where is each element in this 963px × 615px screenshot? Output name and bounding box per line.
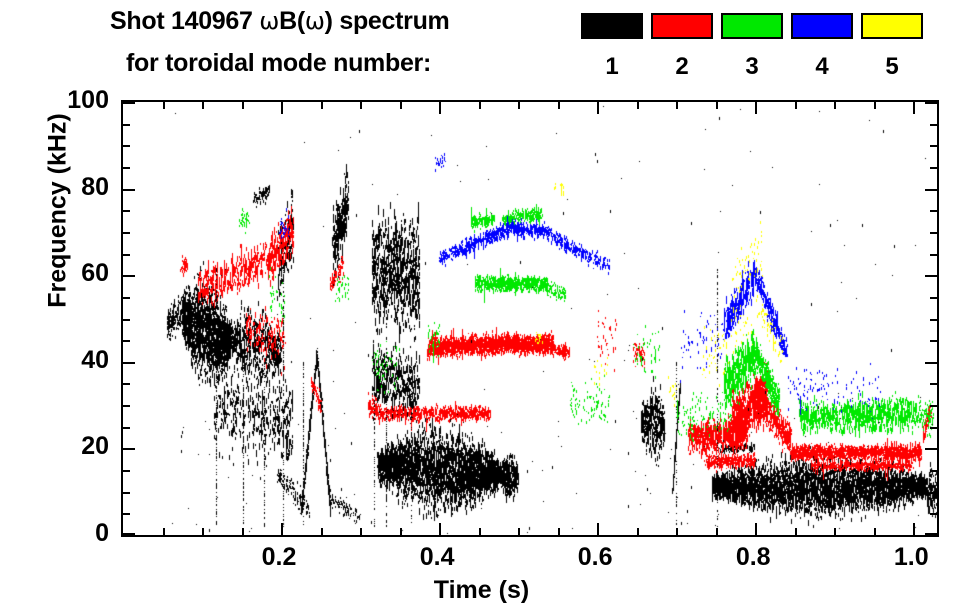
legend-swatch-3 xyxy=(721,13,783,39)
x-minor-tick xyxy=(558,528,560,535)
y-minor-tick-right xyxy=(930,492,937,494)
x-major-tick-top xyxy=(281,102,283,114)
x-minor-tick-top xyxy=(874,102,876,109)
legend-swatch-4 xyxy=(791,13,853,39)
y-major-tick-right xyxy=(925,533,937,535)
y-major-tick-right xyxy=(925,102,937,104)
x-minor-tick xyxy=(400,528,402,535)
x-minor-tick-top xyxy=(795,102,797,109)
y-minor-tick-right xyxy=(930,405,937,407)
x-minor-tick xyxy=(874,528,876,535)
x-tick-label-0.6: 0.6 xyxy=(545,545,645,570)
y-major-tick xyxy=(123,189,135,191)
x-major-tick-top xyxy=(597,102,599,114)
x-major-tick xyxy=(597,523,599,535)
legend-swatch-5 xyxy=(861,13,923,39)
x-minor-tick xyxy=(637,528,639,535)
legend-label-2: 2 xyxy=(651,55,713,79)
x-minor-tick xyxy=(834,528,836,535)
x-minor-tick xyxy=(518,528,520,535)
x-minor-tick-top xyxy=(676,102,678,109)
y-major-tick xyxy=(123,533,135,535)
y-minor-tick-right xyxy=(930,297,937,299)
x-major-tick xyxy=(439,523,441,535)
x-minor-tick-top xyxy=(360,102,362,109)
y-minor-tick xyxy=(123,513,130,515)
y-major-tick-right xyxy=(925,448,937,450)
y-minor-tick-right xyxy=(930,340,937,342)
y-minor-tick xyxy=(123,383,130,385)
x-axis-label: Time (s) xyxy=(0,578,963,603)
y-minor-tick xyxy=(123,340,130,342)
y-minor-tick-right xyxy=(930,254,937,256)
y-minor-tick xyxy=(123,405,130,407)
y-minor-tick-right xyxy=(930,210,937,212)
y-minor-tick-right xyxy=(930,513,937,515)
x-minor-tick xyxy=(163,528,165,535)
y-tick-label-0: 0 xyxy=(39,521,109,546)
y-minor-tick xyxy=(123,427,130,429)
y-axis-label: Frequency (kHz) xyxy=(46,91,71,331)
x-major-tick xyxy=(281,523,283,535)
plot-area xyxy=(121,100,939,537)
x-minor-tick xyxy=(360,528,362,535)
x-major-tick-top xyxy=(913,102,915,114)
legend-swatch-2 xyxy=(651,13,713,39)
x-minor-tick-top xyxy=(834,102,836,109)
x-minor-tick-top xyxy=(716,102,718,109)
y-minor-tick xyxy=(123,297,130,299)
x-minor-tick xyxy=(479,528,481,535)
y-minor-tick xyxy=(123,145,130,147)
y-minor-tick xyxy=(123,210,130,212)
x-minor-tick-top xyxy=(202,102,204,109)
legend-swatch-1 xyxy=(581,13,643,39)
legend: 12345 xyxy=(0,0,963,95)
x-minor-tick-top xyxy=(518,102,520,109)
y-minor-tick xyxy=(123,232,130,234)
y-minor-tick xyxy=(123,492,130,494)
y-major-tick-right xyxy=(925,362,937,364)
y-minor-tick-right xyxy=(930,470,937,472)
x-major-tick-top xyxy=(439,102,441,114)
y-minor-tick xyxy=(123,470,130,472)
y-major-tick xyxy=(123,102,135,104)
y-minor-tick-right xyxy=(930,319,937,321)
x-minor-tick-top xyxy=(400,102,402,109)
legend-label-1: 1 xyxy=(581,55,643,79)
y-minor-tick xyxy=(123,254,130,256)
x-minor-tick-top xyxy=(479,102,481,109)
y-tick-label-20: 20 xyxy=(39,434,109,459)
legend-label-3: 3 xyxy=(721,55,783,79)
x-minor-tick-top xyxy=(558,102,560,109)
y-minor-tick xyxy=(123,124,130,126)
y-minor-tick-right xyxy=(930,383,937,385)
y-minor-tick-right xyxy=(930,167,937,169)
y-major-tick xyxy=(123,275,135,277)
y-minor-tick-right xyxy=(930,427,937,429)
legend-label-5: 5 xyxy=(861,55,923,79)
x-minor-tick-top xyxy=(163,102,165,109)
y-major-tick xyxy=(123,448,135,450)
y-minor-tick xyxy=(123,319,130,321)
x-minor-tick xyxy=(795,528,797,535)
y-major-tick-right xyxy=(925,189,937,191)
y-major-tick xyxy=(123,362,135,364)
x-major-tick xyxy=(913,523,915,535)
x-tick-label-0.8: 0.8 xyxy=(703,545,803,570)
x-minor-tick-top xyxy=(637,102,639,109)
x-minor-tick xyxy=(202,528,204,535)
x-minor-tick xyxy=(676,528,678,535)
x-minor-tick xyxy=(321,528,323,535)
spectrogram-figure: Shot 140967 ωB(ω) spectrum for toroidal … xyxy=(0,0,963,615)
x-major-tick xyxy=(755,523,757,535)
y-minor-tick-right xyxy=(930,124,937,126)
spectrogram-canvas xyxy=(123,102,937,535)
x-minor-tick-top xyxy=(242,102,244,109)
x-tick-label-0.2: 0.2 xyxy=(229,545,329,570)
y-tick-label-40: 40 xyxy=(39,348,109,373)
y-minor-tick xyxy=(123,167,130,169)
x-minor-tick xyxy=(716,528,718,535)
x-tick-label-1.0: 1.0 xyxy=(861,545,961,570)
y-minor-tick-right xyxy=(930,145,937,147)
y-minor-tick-right xyxy=(930,232,937,234)
y-major-tick-right xyxy=(925,275,937,277)
x-major-tick-top xyxy=(755,102,757,114)
legend-label-4: 4 xyxy=(791,55,853,79)
x-minor-tick xyxy=(242,528,244,535)
x-tick-label-0.4: 0.4 xyxy=(387,545,487,570)
x-minor-tick-top xyxy=(321,102,323,109)
